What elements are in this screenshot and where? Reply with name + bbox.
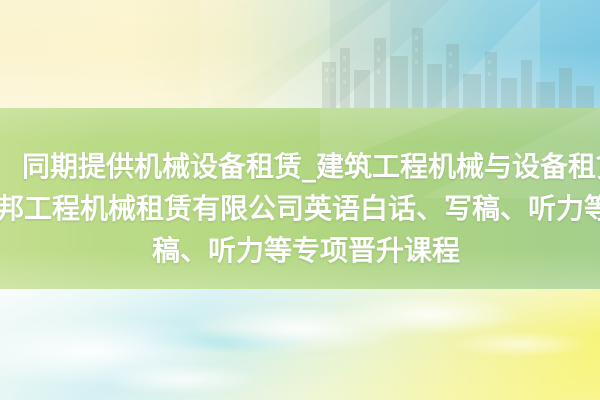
banner-text-line-2: 邦工程机械租赁有限公司英语白话、写稿、听力等专项 xyxy=(0,192,600,226)
banner-text-line-1: 同期提供机械设备租赁_建筑工程机械与设备租赁 xyxy=(22,150,600,184)
sky-top-band xyxy=(0,0,600,110)
promo-banner: 同期提供机械设备租赁_建筑工程机械与设备租赁 邦工程机械租赁有限公司英语白话、写… xyxy=(0,0,600,400)
banner-text-block: 同期提供机械设备租赁_建筑工程机械与设备租赁 邦工程机械租赁有限公司英语白话、写… xyxy=(0,108,600,289)
cloud-sky-bottom xyxy=(0,289,600,400)
city-skyline-icon xyxy=(318,18,600,110)
banner-text-line-3: 稿、听力等专项晋升课程 xyxy=(152,234,460,268)
